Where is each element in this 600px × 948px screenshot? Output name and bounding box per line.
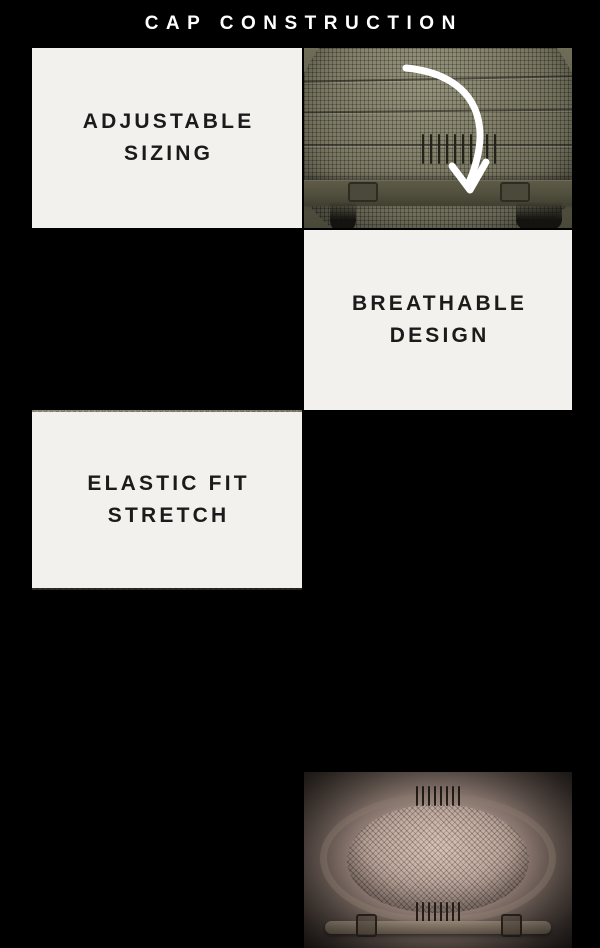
hair-strands: [330, 202, 356, 228]
feature-label-line-2: SIZING: [121, 138, 213, 170]
feature-label-line-2: DESIGN: [387, 320, 490, 352]
curved-arrow-icon: [400, 62, 510, 212]
infographic-page: CAP CONSTRUCTION ADJUSTABLE SIZING: [0, 0, 600, 600]
feature-card-breathable-design: BREATHABLE DESIGN: [304, 230, 572, 410]
feature-card-adjustable-sizing: ADJUSTABLE SIZING: [32, 48, 302, 228]
cap-interior-photo: [304, 772, 572, 948]
feature-label-line-1: BREATHABLE: [349, 288, 527, 320]
feature-grid: ADJUSTABLE SIZING: [32, 48, 572, 588]
adjustable-buckle-left: [348, 182, 378, 202]
feature-label-line-1: ELASTIC FIT: [84, 468, 250, 500]
photo-vignette: [304, 772, 572, 948]
page-title: CAP CONSTRUCTION: [0, 0, 600, 48]
feature-card-elastic-fit-stretch: ELASTIC FIT STRETCH: [32, 412, 302, 588]
feature-label-line-1: ADJUSTABLE: [80, 106, 255, 138]
cap-back-photo: [304, 48, 572, 228]
feature-label-line-2: STRETCH: [105, 500, 230, 532]
hair-strands: [516, 202, 562, 228]
